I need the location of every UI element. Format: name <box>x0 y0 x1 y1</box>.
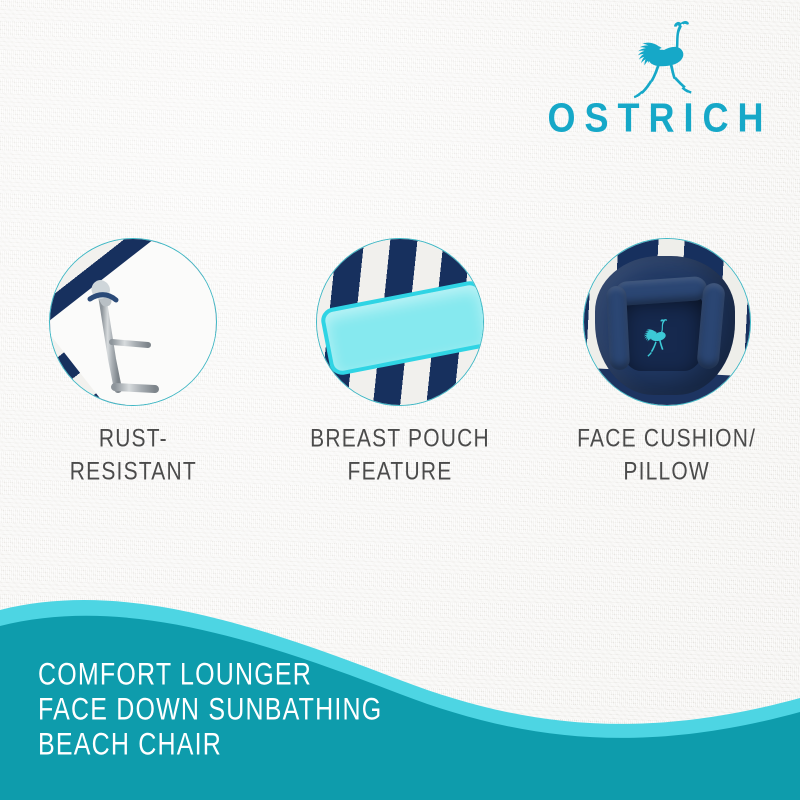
banner-line: COMFORT LOUNGER <box>38 657 382 692</box>
feature-rust-resistant: RUST- RESISTANT <box>13 238 253 483</box>
feature-caption-breast-pouch: BREAST POUCH FEATURE <box>310 423 490 488</box>
feature-row: RUST- RESISTANT BREAST POUCH FEATURE <box>0 238 800 508</box>
caption-line: PILLOW <box>577 456 756 489</box>
banner-line: FACE DOWN SUNBATHING <box>38 692 382 727</box>
metal-chair-leg <box>50 239 216 405</box>
feature-image-rust-resistant <box>49 238 217 406</box>
feature-image-face-cushion <box>583 238 751 406</box>
feature-breast-pouch: BREAST POUCH FEATURE <box>280 238 520 483</box>
caption-line: FACE CUSHION/ <box>577 423 756 456</box>
banner-line: BEACH CHAIR <box>38 727 382 762</box>
cushion-roll-left <box>606 286 630 371</box>
product-title-banner: COMFORT LOUNGER FACE DOWN SUNBATHING BEA… <box>38 657 382 762</box>
face-cushion-body <box>595 256 734 395</box>
brand-wordmark: OSTRICH <box>548 98 773 138</box>
feature-caption-face-cushion: FACE CUSHION/ PILLOW <box>577 423 756 488</box>
ostrich-bird-icon <box>615 18 705 98</box>
feature-image-breast-pouch <box>316 238 484 406</box>
ostrich-bird-icon <box>641 317 675 359</box>
caption-line: BREAST POUCH <box>310 423 490 456</box>
brand-logo: OSTRICH <box>520 18 800 148</box>
caption-line: RUST- <box>70 423 197 456</box>
feature-caption-rust-resistant: RUST- RESISTANT <box>70 423 197 488</box>
product-feature-graphic: OSTRICH <box>0 0 800 800</box>
caption-line: RESISTANT <box>70 456 197 489</box>
feature-face-cushion: FACE CUSHION/ PILLOW <box>547 238 787 483</box>
caption-line: FEATURE <box>310 456 490 489</box>
